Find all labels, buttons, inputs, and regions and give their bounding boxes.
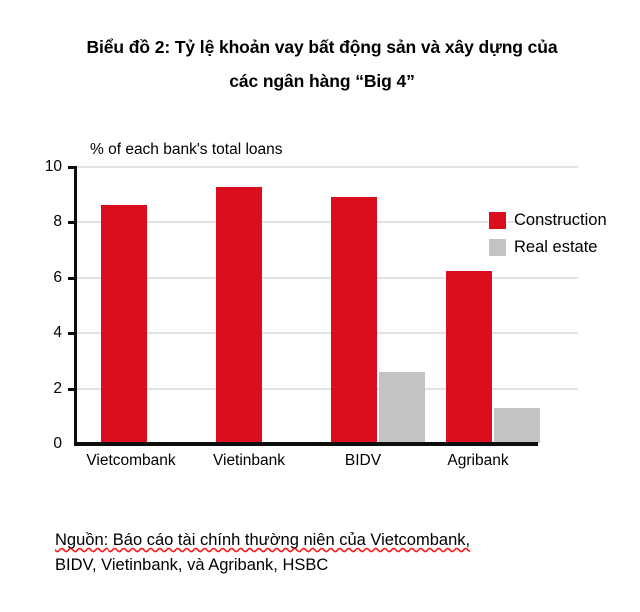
y-axis-units-label: % of each bank's total loans bbox=[90, 142, 283, 158]
source-note: Nguồn: Báo cáo tài chính thường niên của… bbox=[55, 528, 600, 578]
x-tick-label-vietcombank: Vietcombank bbox=[66, 452, 196, 469]
x-tick-label-bidv: BIDV bbox=[300, 452, 426, 469]
y-tickmark-10 bbox=[68, 166, 77, 169]
legend-swatch-construction-icon bbox=[489, 212, 506, 229]
bar-real-estate-agribank bbox=[494, 408, 540, 443]
gridline-10 bbox=[77, 166, 578, 168]
y-axis-spine bbox=[74, 166, 77, 444]
bar-construction-bidv bbox=[331, 197, 377, 444]
y-tickmark-6 bbox=[68, 277, 77, 280]
bar-construction-vietcombank bbox=[101, 205, 147, 443]
bar-chart-figure: Construction Real estate % of each bank'… bbox=[0, 130, 640, 490]
gridline-4 bbox=[77, 332, 578, 334]
y-tick-label-2: 2 bbox=[32, 381, 62, 397]
x-tick-label-agribank: Agribank bbox=[415, 452, 541, 469]
x-axis-spine bbox=[74, 442, 538, 446]
y-tickmark-2 bbox=[68, 388, 77, 391]
chart-legend: Construction Real estate bbox=[489, 207, 607, 261]
legend-label-construction: Construction bbox=[514, 212, 607, 229]
source-prefix: Nguồn: bbox=[55, 531, 108, 549]
gridline-2 bbox=[77, 388, 578, 390]
bar-construction-vietinbank bbox=[216, 187, 262, 443]
page-title: Biểu đồ 2: Tỷ lệ khoản vay bất động sản … bbox=[72, 30, 572, 98]
source-line-2: BIDV, Vietinbank, và Agribank, HSBC bbox=[55, 556, 328, 574]
plot-area: Construction Real estate bbox=[77, 166, 578, 443]
legend-swatch-real-estate-icon bbox=[489, 239, 506, 256]
x-tick-label-vietinbank: Vietinbank bbox=[186, 452, 312, 469]
y-tick-label-6: 6 bbox=[32, 270, 62, 286]
bar-construction-agribank bbox=[446, 271, 492, 443]
legend-item-construction: Construction bbox=[489, 207, 607, 234]
y-tick-label-0: 0 bbox=[32, 436, 62, 452]
y-tick-label-4: 4 bbox=[32, 325, 62, 341]
y-tick-label-10: 10 bbox=[32, 159, 62, 175]
legend-item-real-estate: Real estate bbox=[489, 234, 607, 261]
bar-real-estate-bidv bbox=[379, 372, 425, 443]
gridline-6 bbox=[77, 277, 578, 279]
y-tickmark-4 bbox=[68, 332, 77, 335]
y-tickmark-8 bbox=[68, 221, 77, 224]
legend-label-real-estate: Real estate bbox=[514, 239, 597, 256]
source-line-1: Báo cáo tài chính thường niên của Vietco… bbox=[108, 531, 470, 549]
y-tick-label-8: 8 bbox=[32, 214, 62, 230]
